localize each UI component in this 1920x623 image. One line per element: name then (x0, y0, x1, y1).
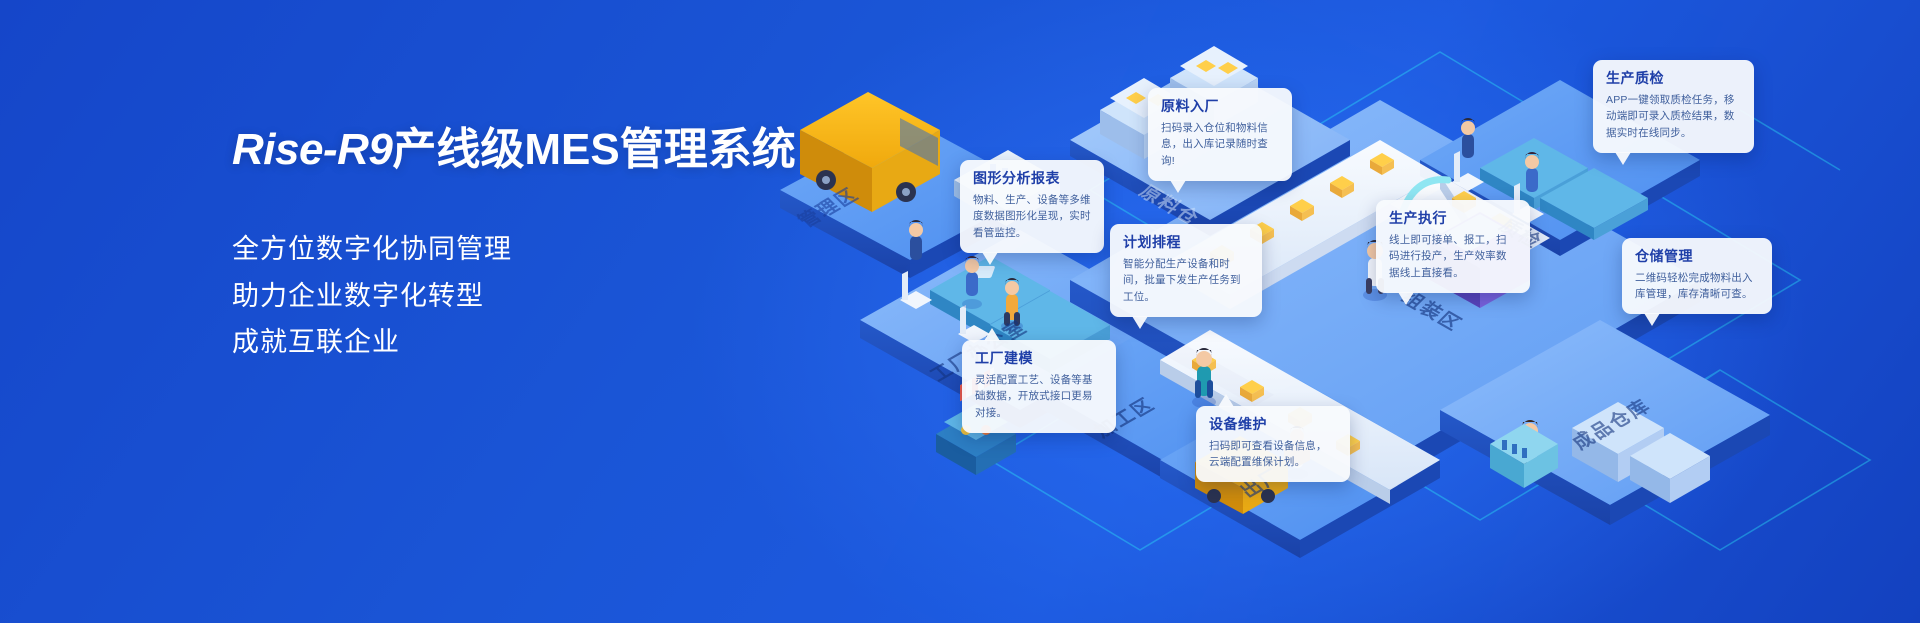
callout-title: 设备维护 (1209, 416, 1337, 433)
callout-title: 原料入厂 (1161, 98, 1279, 115)
callout-title: 计划排程 (1123, 234, 1249, 251)
callout-tail-icon (1218, 394, 1234, 407)
callout-body: 二维码轻松完成物料出入库管理，库存清晰可查。 (1635, 270, 1759, 303)
callout-factory-modeling[interactable]: 工厂建模 灵活配置工艺、设备等基础数据，开放式接口更易对接。 (962, 340, 1116, 433)
callout-tail-icon (984, 328, 1000, 341)
callout-title: 仓储管理 (1635, 248, 1759, 265)
callout-graphic-analysis-report[interactable]: 图形分析报表 物料、生产、设备等多维度数据图形化呈现，实时看管监控。 (960, 160, 1104, 253)
callout-tail-icon (982, 252, 998, 265)
callout-title: 工厂建模 (975, 350, 1103, 367)
page-title-chinese: 产线级MES管理系统 (392, 125, 795, 174)
callout-title: 生产质检 (1606, 70, 1741, 87)
callout-plan-scheduling[interactable]: 计划排程 智能分配生产设备和时间，批量下发生产任务到工位。 (1110, 224, 1262, 317)
callout-body: 智能分配生产设备和时间，批量下发生产任务到工位。 (1123, 256, 1249, 306)
hero-copy: Rise-R9产线级MES管理系统 全方位数字化协同管理 助力企业数字化转型 成… (232, 126, 792, 366)
callout-body: APP一键领取质检任务，移动端即可录入质检结果，数据实时在线同步。 (1606, 92, 1741, 142)
callout-production-quality-inspection[interactable]: 生产质检 APP一键领取质检任务，移动端即可录入质检结果，数据实时在线同步。 (1593, 60, 1754, 153)
callout-body: 灵活配置工艺、设备等基础数据，开放式接口更易对接。 (975, 372, 1103, 422)
callout-title: 图形分析报表 (973, 170, 1091, 187)
callout-body: 扫码即可查看设备信息，云端配置维保计划。 (1209, 438, 1337, 471)
callout-equipment-maintenance[interactable]: 设备维护 扫码即可查看设备信息，云端配置维保计划。 (1196, 406, 1350, 482)
callout-production-execution[interactable]: 生产执行 线上即可接单、报工，扫码进行投产，生产效率数据线上直接看。 (1376, 200, 1530, 293)
subheadline-line-2: 助力企业数字化转型 (232, 273, 792, 319)
callout-tail-icon (1644, 313, 1660, 326)
mes-hero-banner: Rise-R9产线级MES管理系统 全方位数字化协同管理 助力企业数字化转型 成… (0, 0, 1920, 623)
callout-warehouse-management[interactable]: 仓储管理 二维码轻松完成物料出入库管理，库存清晰可查。 (1622, 238, 1772, 314)
callout-material-inbound[interactable]: 原料入厂 扫码录入仓位和物料信息，出入库记录随时查询! (1148, 88, 1292, 181)
subheadline-line-3: 成就互联企业 (232, 319, 792, 365)
page-title: Rise-R9产线级MES管理系统 (232, 126, 792, 174)
callout-tail-icon (1132, 316, 1148, 329)
subheadline-list: 全方位数字化协同管理 助力企业数字化转型 成就互联企业 (232, 226, 792, 365)
callout-body: 扫码录入仓位和物料信息，出入库记录随时查询! (1161, 120, 1279, 170)
callout-body: 线上即可接单、报工，扫码进行投产，生产效率数据线上直接看。 (1389, 232, 1517, 282)
callout-tail-icon (1398, 292, 1414, 305)
callout-tail-icon (1170, 180, 1186, 193)
person-inspector-2 (1525, 152, 1539, 192)
callout-body: 物料、生产、设备等多维度数据图形化呈现，实时看管监控。 (973, 192, 1091, 242)
callout-tail-icon (1615, 152, 1631, 165)
subheadline-line-1: 全方位数字化协同管理 (232, 226, 792, 272)
callout-title: 生产执行 (1389, 210, 1517, 227)
person-inspector-1 (1461, 118, 1475, 158)
page-title-latin: Rise-R9 (232, 125, 392, 174)
